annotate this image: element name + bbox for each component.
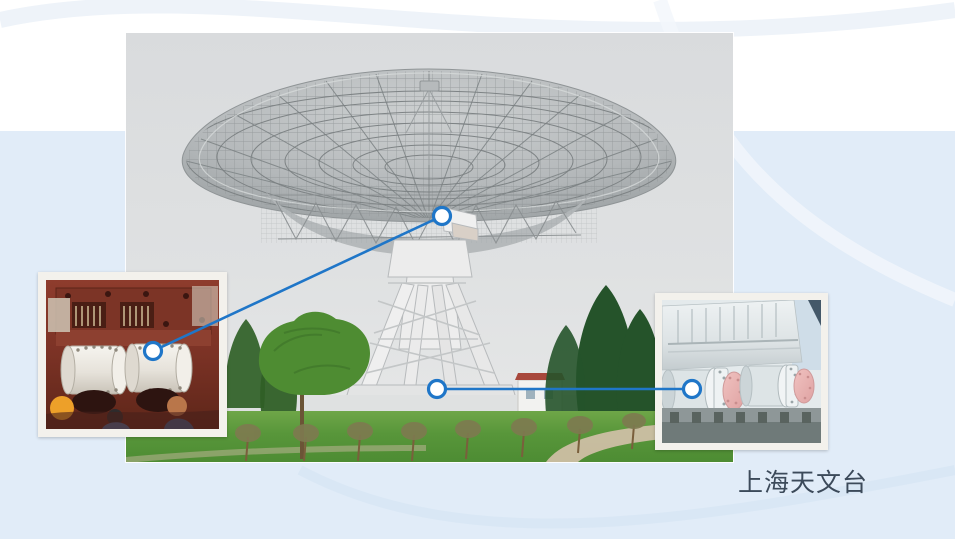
bearing-assembly-rusty-photo: [38, 272, 227, 437]
slide-caption: 上海天文台: [738, 469, 868, 499]
bearing-assembly-clean-photo: [655, 293, 828, 450]
slide-canvas: 上海天文台: [0, 0, 955, 539]
inset-right-image: [662, 300, 821, 443]
inset-left-image: [46, 280, 219, 429]
